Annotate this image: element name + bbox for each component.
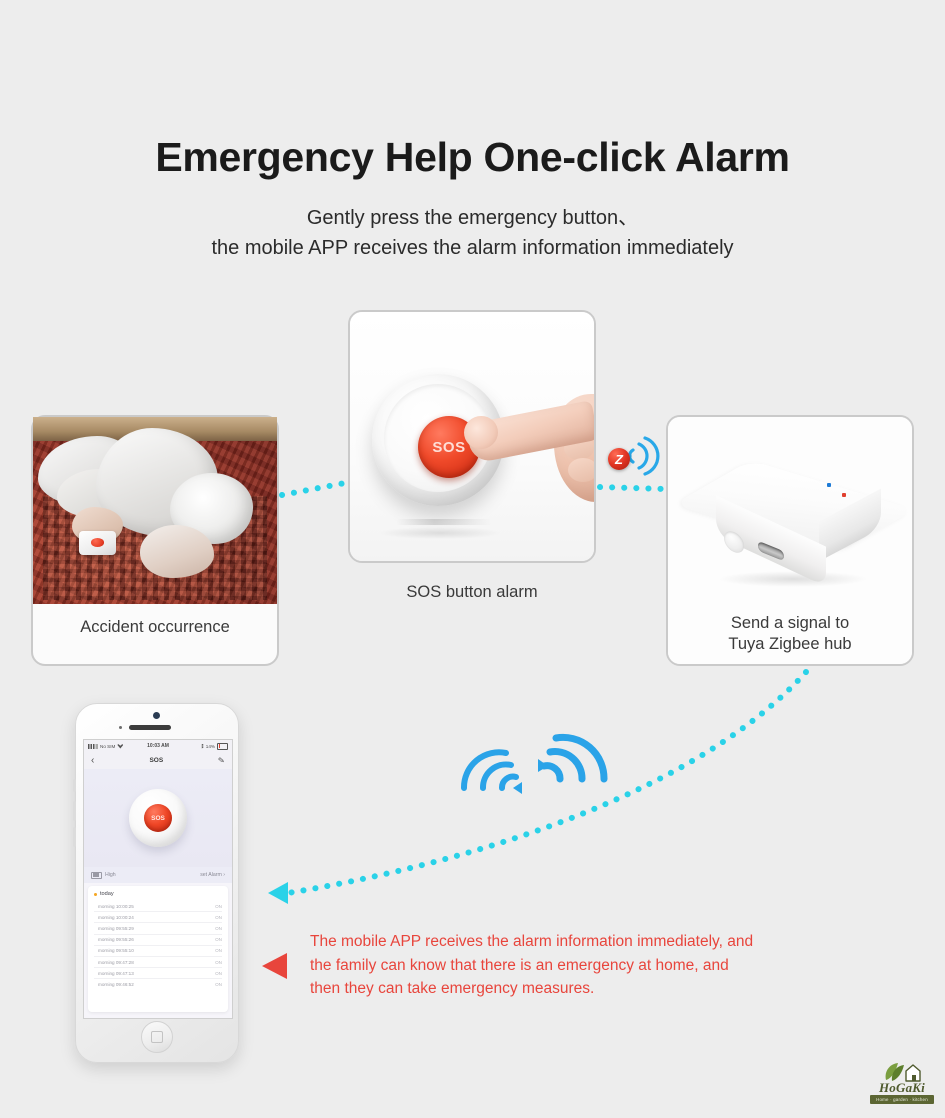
phone-silent-switch[interactable] <box>73 779 76 792</box>
log-status-dot-icon <box>94 893 97 896</box>
log-row[interactable]: morning 09:55:29ON <box>94 922 222 933</box>
log-row[interactable]: morning 09:55:26ON <box>94 934 222 945</box>
device-battery-icon <box>91 872 102 879</box>
pencil-icon[interactable]: ✎ <box>218 756 226 766</box>
back-chevron-icon[interactable]: ‹ <box>91 756 94 766</box>
hub-led-blue-icon <box>827 483 831 487</box>
log-row-state: ON <box>215 971 222 976</box>
zigbee-badge-icon: Z <box>608 448 630 470</box>
signal-wave-left-point-icon <box>513 782 522 794</box>
set-alarm-link[interactable]: set Alarm › <box>200 872 225 878</box>
log-row-state: ON <box>215 937 222 942</box>
status-bar: No SIM 10:03 AM 14% <box>84 740 232 752</box>
phone-home-button[interactable] <box>141 1021 173 1053</box>
connector-sos-to-hub <box>600 487 665 489</box>
app-sos-button[interactable]: SOS <box>129 789 187 847</box>
connector-arrowhead-icon <box>268 882 288 904</box>
sos-device-icon <box>79 531 116 555</box>
wall-trim <box>396 519 492 525</box>
note-line-3: then they can take emergency measures. <box>310 977 840 1001</box>
knuckle-2 <box>568 458 594 482</box>
connector-accident-to-sos <box>282 483 345 495</box>
zigbee-arc-icon <box>630 438 658 474</box>
subtitle-line-1: Gently press the emergency button、 <box>0 201 945 230</box>
log-row-state: ON <box>215 982 222 987</box>
log-row-state: ON <box>215 960 222 965</box>
battery-icon <box>217 743 228 750</box>
log-group-label: today <box>100 891 114 897</box>
logo-tagline: Home · garden · kitchen <box>870 1095 934 1104</box>
card-sos-button[interactable]: SOS <box>348 310 596 563</box>
log-row-time: morning 09:55:10 <box>98 948 134 953</box>
battery-percent-label: 14% <box>206 744 215 749</box>
alarm-log-list[interactable]: today morning 10:00:25ONmorning 10:00:24… <box>88 886 228 1012</box>
app-sos-hero: SOS <box>84 769 232 867</box>
house-leaf-logo-icon <box>882 1060 922 1082</box>
battery-level-label: High <box>105 872 116 878</box>
zigbee-gateway <box>694 449 890 589</box>
hub-shadow <box>718 571 868 587</box>
accident-caption: Accident occurrence <box>33 617 277 638</box>
bluetooth-icon <box>200 744 204 749</box>
log-row-time: morning 09:55:29 <box>98 926 134 931</box>
carrier-label: No SIM <box>100 744 115 749</box>
log-row-state: ON <box>215 926 222 931</box>
log-row[interactable]: morning 10:00:25ON <box>94 901 222 911</box>
infographic-stage: Emergency Help One-click Alarm Gently pr… <box>0 0 945 1118</box>
page-title: Emergency Help One-click Alarm <box>0 134 945 181</box>
phone-screen: No SIM 10:03 AM 14% ‹ SOS ✎ <box>83 739 233 1019</box>
wifi-icon <box>117 744 123 749</box>
phone-mockup: No SIM 10:03 AM 14% ‹ SOS ✎ <box>75 703 239 1063</box>
app-nav-bar: ‹ SOS ✎ <box>84 752 232 769</box>
hub-caption-line-2: Tuya Zigbee hub <box>668 634 912 655</box>
log-group-header: today <box>94 891 222 897</box>
phone-earpiece <box>129 725 171 730</box>
signal-bars-icon <box>88 744 98 749</box>
hub-led-red-icon <box>842 493 846 497</box>
sos-photo: SOS <box>350 312 594 561</box>
summary-note: The mobile APP receives the alarm inform… <box>310 930 840 1001</box>
status-time: 10:03 AM <box>147 743 169 749</box>
phone-front-camera-icon <box>153 712 160 719</box>
log-row-state: ON <box>215 948 222 953</box>
log-row[interactable]: morning 09:55:10ON <box>94 945 222 956</box>
phone-sensor-icon <box>119 726 122 729</box>
log-rows-container: morning 10:00:25ONmorning 10:00:24ONmorn… <box>94 901 222 990</box>
signal-wave-left-icon <box>464 752 516 788</box>
zigbee-letter: Z <box>615 453 623 466</box>
app-sos-label: SOS <box>151 815 165 822</box>
pressing-hand <box>468 390 594 512</box>
log-row[interactable]: morning 09:47:28ON <box>94 956 222 967</box>
note-line-1: The mobile APP receives the alarm inform… <box>310 930 840 954</box>
phone-volume-down-button[interactable] <box>73 827 76 847</box>
log-row-state: ON <box>215 915 222 920</box>
log-row-time: morning 09:46:52 <box>98 982 134 987</box>
subtitle-line-2: the mobile APP receives the alarm inform… <box>0 237 945 260</box>
log-row-time: morning 10:00:24 <box>98 915 134 920</box>
person-arm <box>140 525 213 577</box>
card-accident-occurrence[interactable]: Accident occurrence <box>31 415 279 666</box>
log-row[interactable]: morning 09:47:13ON <box>94 967 222 978</box>
brand-logo: HoGaKi Home · garden · kitchen <box>868 1060 936 1108</box>
hub-caption-line-1: Send a signal to <box>668 613 912 634</box>
note-arrow-icon <box>262 953 287 979</box>
connector-hub-to-phone <box>282 672 806 894</box>
card-zigbee-hub[interactable]: Send a signal to Tuya Zigbee hub <box>666 415 914 666</box>
app-title: SOS <box>149 757 163 764</box>
log-row-time: morning 10:00:25 <box>98 904 134 909</box>
log-row-state: ON <box>215 904 222 909</box>
signal-wave-right-icon <box>544 737 604 779</box>
sos-caption: SOS button alarm <box>348 582 596 603</box>
log-row[interactable]: morning 09:46:52ON <box>94 978 222 989</box>
log-row[interactable]: morning 10:00:24ON <box>94 911 222 922</box>
sos-button-label: SOS <box>432 439 465 456</box>
app-meta-row: High set Alarm › <box>84 867 232 883</box>
signal-wave-right-point-icon <box>538 759 548 772</box>
log-row-time: morning 09:47:28 <box>98 960 134 965</box>
button-shadow <box>380 527 500 539</box>
log-row-time: morning 09:47:13 <box>98 971 134 976</box>
note-line-2: the family can know that there is an eme… <box>310 954 840 978</box>
log-row-time: morning 09:55:26 <box>98 937 134 942</box>
logo-wordmark: HoGaKi <box>868 1080 936 1096</box>
app-sos-button-core: SOS <box>144 804 172 832</box>
phone-volume-up-button[interactable] <box>73 801 76 821</box>
accident-photo <box>33 417 277 604</box>
